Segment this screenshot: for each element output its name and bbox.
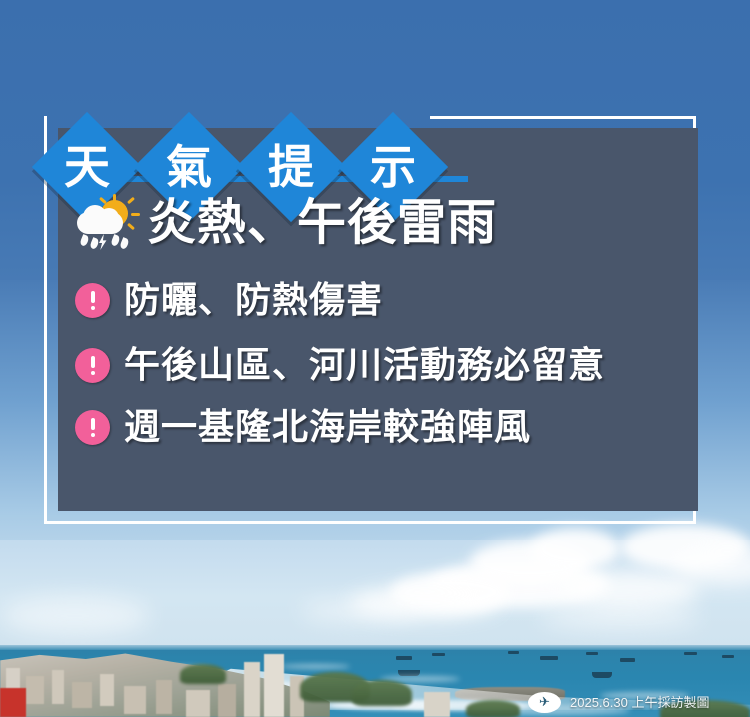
footer-credit: ✈ 2025.6.30 上午採訪製圖 [528, 689, 709, 715]
notice-item-1-text: 防曬、防熱傷害 [124, 282, 383, 318]
broadcaster-logo-icon: ✈ [528, 692, 561, 713]
exclamation-circle-icon [75, 410, 110, 445]
title-char-1: 天 [48, 128, 126, 206]
notice-item-3-text: 週一基隆北海岸較強陣風 [124, 409, 531, 445]
exclamation-circle-icon [75, 348, 110, 383]
notice-item-2-text: 午後山區、河川活動務必留意 [124, 347, 605, 383]
notice-item-1: 防曬、防熱傷害 [75, 282, 383, 318]
footer-text: 2025.6.30 上午採訪製圖 [570, 696, 709, 709]
title-banner: 天 氣 提 示 [0, 64, 750, 174]
notice-item-2: 午後山區、河川活動務必留意 [75, 347, 605, 383]
logo-mark: ✈ [535, 696, 554, 708]
title-char-4: 示 [354, 128, 432, 206]
infographic-canvas: 天 氣 提 示 炎熱、午後雷雨 防曬、防熱傷害 午 [0, 0, 750, 717]
horizon-line [0, 645, 750, 650]
title-char-2: 氣 [150, 128, 228, 206]
exclamation-circle-icon [75, 283, 110, 318]
title-char-3: 提 [252, 128, 330, 206]
notice-item-3: 週一基隆北海岸較強陣風 [75, 409, 531, 445]
